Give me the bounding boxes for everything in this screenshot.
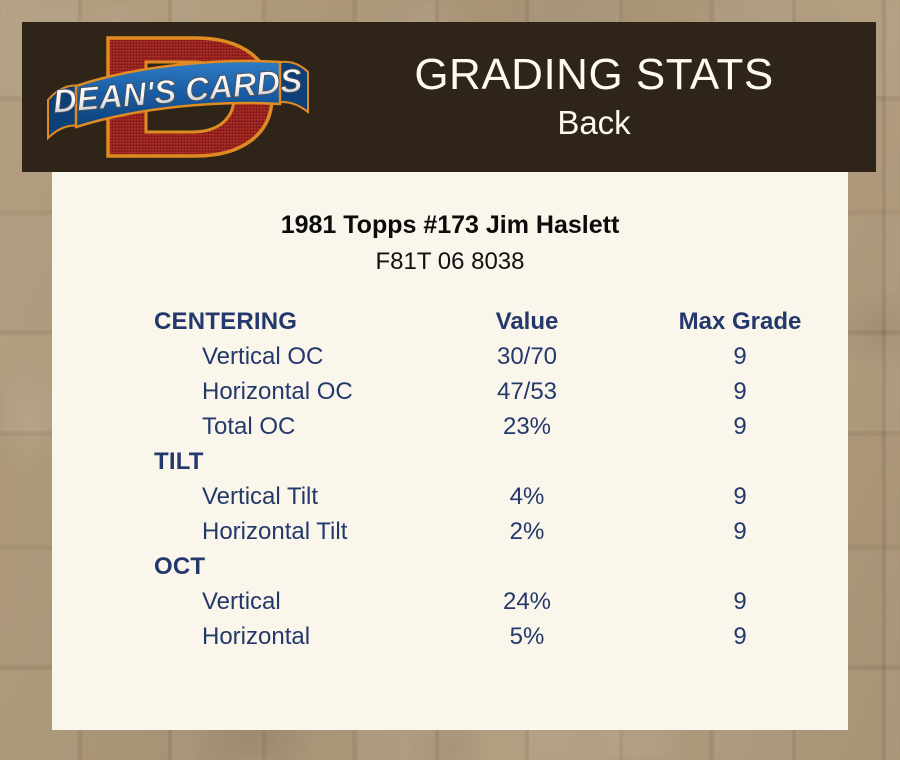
section-label: CENTERING [52,305,422,340]
stat-label: Horizontal [52,620,422,655]
stat-max-grade: 9 [632,515,848,550]
stat-value: 5% [422,620,632,655]
section-spacer-grade [632,550,848,585]
stat-max-grade: 9 [632,480,848,515]
table-row: Total OC23%9 [52,410,848,445]
stat-label: Vertical OC [52,340,422,375]
table-row: Vertical24%9 [52,585,848,620]
stat-max-grade: 9 [632,410,848,445]
page-subtitle: Back [557,104,630,142]
section-label: TILT [52,445,422,480]
stats-section-header-tilt: TILT [52,445,848,480]
stat-value: 47/53 [422,375,632,410]
section-label: OCT [52,550,422,585]
column-header-max-grade: Max Grade [632,305,848,340]
stat-value: 30/70 [422,340,632,375]
table-row: Horizontal5%9 [52,620,848,655]
stats-table-body: CENTERINGValueMax GradeVertical OC30/709… [52,305,848,655]
stat-label: Horizontal OC [52,375,422,410]
section-spacer-grade [632,445,848,480]
table-row: Horizontal Tilt2%9 [52,515,848,550]
stat-label: Total OC [52,410,422,445]
grading-stats-table: CENTERINGValueMax GradeVertical OC30/709… [52,305,848,655]
section-spacer-value [422,445,632,480]
table-row: Vertical Tilt4%9 [52,480,848,515]
grading-stats-page: DEAN'S CARDS GRADING STATS Back 1981 Top… [0,0,900,760]
card-title: 1981 Topps #173 Jim Haslett [52,210,848,240]
stat-label: Vertical Tilt [52,480,422,515]
stat-value: 24% [422,585,632,620]
stat-max-grade: 9 [632,585,848,620]
header-band: DEAN'S CARDS GRADING STATS Back [22,22,876,172]
table-row: Vertical OC30/709 [52,340,848,375]
column-header-value: Value [422,305,632,340]
stat-max-grade: 9 [632,375,848,410]
stat-max-grade: 9 [632,340,848,375]
stat-value: 2% [422,515,632,550]
stat-max-grade: 9 [632,620,848,655]
table-row: Horizontal OC47/539 [52,375,848,410]
content-panel: 1981 Topps #173 Jim Haslett F81T 06 8038… [52,172,848,730]
stat-label: Horizontal Tilt [52,515,422,550]
stats-section-header-centering: CENTERINGValueMax Grade [52,305,848,340]
stat-value: 23% [422,410,632,445]
deans-cards-logo: DEAN'S CARDS [46,26,310,168]
header-title-group: GRADING STATS Back [322,22,866,172]
section-spacer-value [422,550,632,585]
stat-label: Vertical [52,585,422,620]
stat-value: 4% [422,480,632,515]
card-serial-number: F81T 06 8038 [52,248,848,277]
stats-section-header-oct: OCT [52,550,848,585]
page-title: GRADING STATS [414,52,773,98]
